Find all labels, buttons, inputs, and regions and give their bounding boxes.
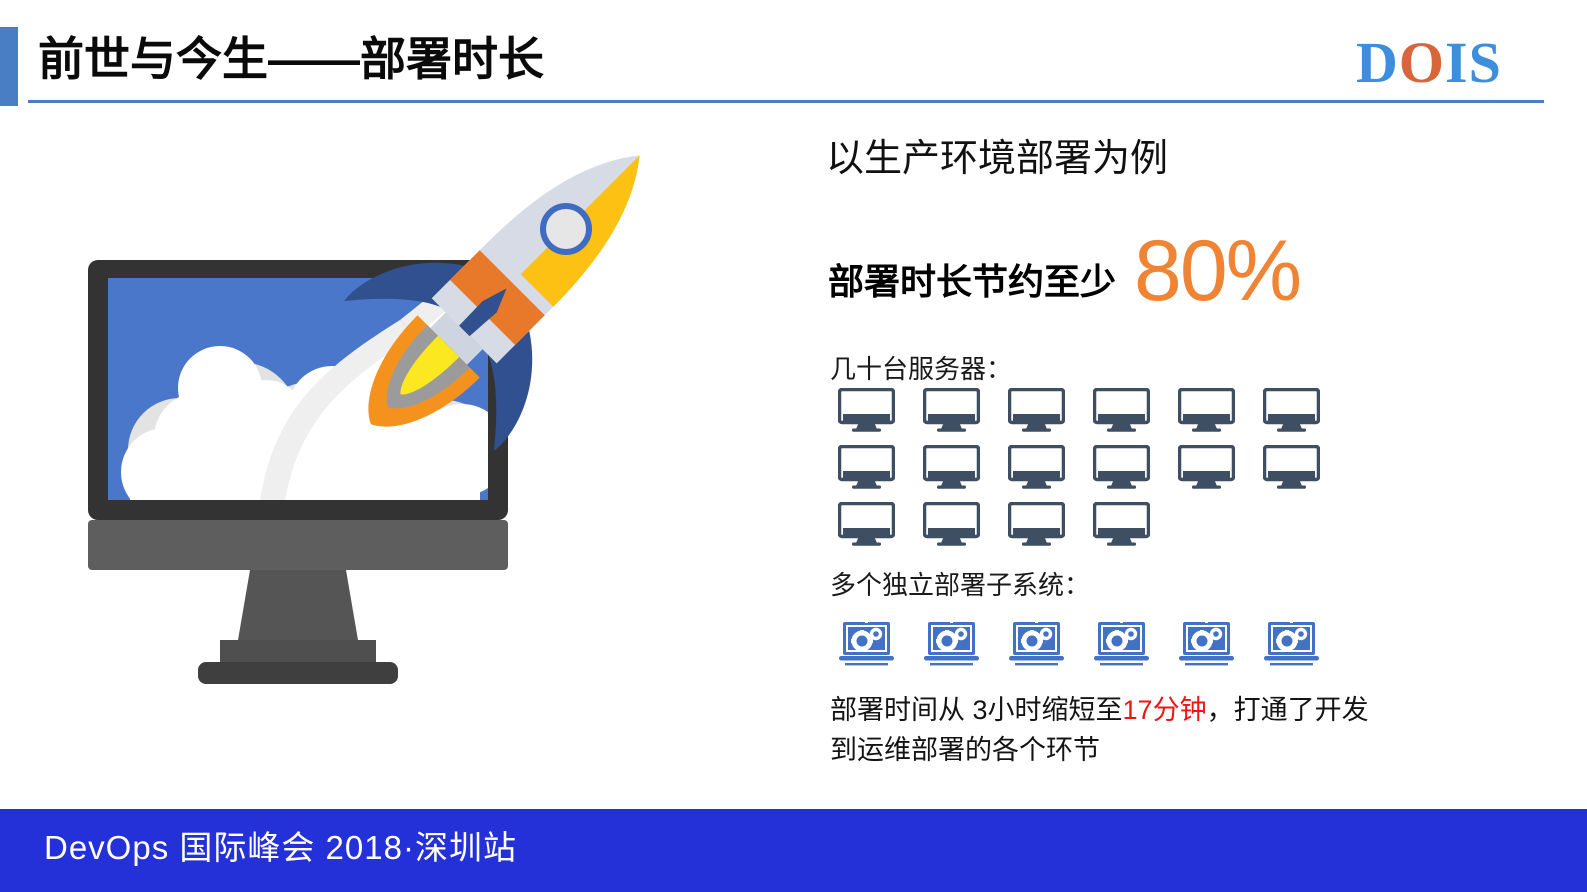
deployment-subsystem-icon xyxy=(1178,620,1235,666)
server-monitor-icon xyxy=(1008,388,1065,432)
headline-percent-value: 80% xyxy=(1134,228,1300,314)
subsystems-icon-row xyxy=(838,620,1320,666)
logo-letters-is: IS xyxy=(1445,30,1502,95)
logo-letter-o: O xyxy=(1399,30,1445,95)
server-monitor-icon xyxy=(838,388,895,432)
server-monitor-icon xyxy=(923,502,980,546)
server-monitor-icon xyxy=(1093,502,1150,546)
headline-row: 部署时长节约至少 80% xyxy=(828,228,1300,314)
servers-section-label: 几十台服务器： xyxy=(830,352,1012,386)
slide-canvas: 前世与今生——部署时长 DOIS xyxy=(0,0,1587,892)
server-monitor-icon xyxy=(1008,445,1065,489)
illustration-svg xyxy=(70,120,750,780)
right-content-column: 以生产环境部署为例 xyxy=(826,134,1546,184)
server-monitor-icon xyxy=(923,388,980,432)
logo-letter-d: D xyxy=(1356,30,1399,95)
page-title: 前世与今生——部署时长 xyxy=(38,28,544,90)
server-monitor-icon xyxy=(1178,388,1235,432)
deployment-subsystem-icon xyxy=(1093,620,1150,666)
deployment-subsystem-icon xyxy=(1008,620,1065,666)
footnote-part-1: 部署时间从 3小时缩短至 xyxy=(830,695,1123,725)
server-monitor-icon xyxy=(1263,445,1320,489)
lead-text: 以生产环境部署为例 xyxy=(826,134,1546,184)
headline-label: 部署时长节约至少 xyxy=(828,260,1116,314)
rocket-monitor-illustration xyxy=(70,120,750,780)
server-monitor-icon xyxy=(838,502,895,546)
subsystems-section-label: 多个独立部署子系统： xyxy=(830,568,1090,602)
dois-logo: DOIS xyxy=(1356,32,1502,94)
title-divider xyxy=(28,100,1544,103)
server-monitor-icon xyxy=(1093,445,1150,489)
footnote-text: 部署时间从 3小时缩短至17分钟，打通了开发到运维部署的各个环节 xyxy=(830,690,1390,770)
server-monitor-icon xyxy=(923,445,980,489)
deployment-subsystem-icon xyxy=(923,620,980,666)
title-accent-bar xyxy=(0,27,18,106)
server-monitor-icon xyxy=(1178,445,1235,489)
server-monitor-icon xyxy=(1008,502,1065,546)
server-monitor-icon xyxy=(838,445,895,489)
deployment-subsystem-icon xyxy=(1263,620,1320,666)
server-monitor-icon xyxy=(1093,388,1150,432)
footnote-highlight: 17分钟 xyxy=(1123,695,1207,725)
footer-label: DevOps 国际峰会 2018·深圳站 xyxy=(44,826,517,870)
server-monitor-icon xyxy=(1263,388,1320,432)
servers-icon-grid xyxy=(838,388,1358,559)
server-row xyxy=(838,445,1358,489)
server-row xyxy=(838,388,1358,432)
server-row xyxy=(838,502,1358,546)
deployment-subsystem-icon xyxy=(838,620,895,666)
